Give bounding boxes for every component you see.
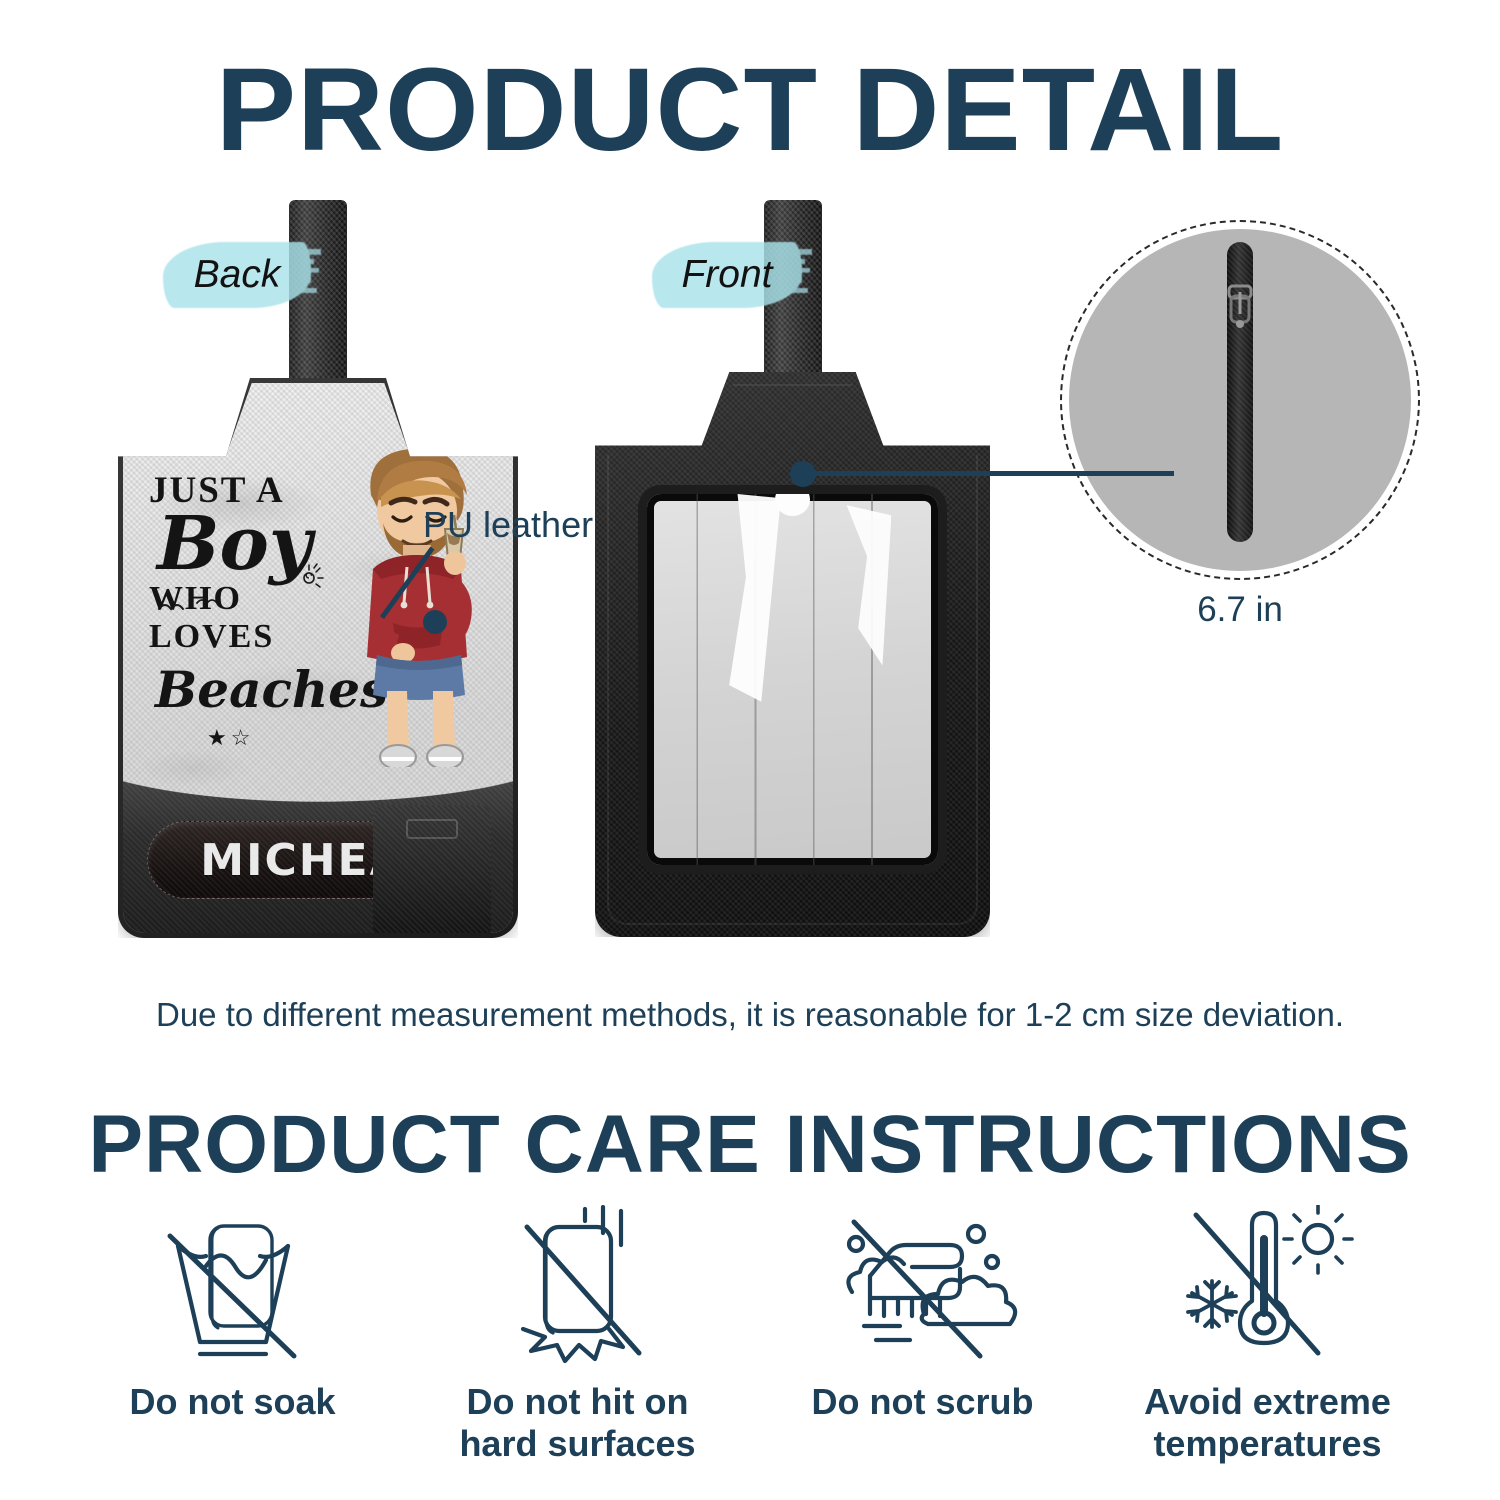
tag-artwork-text: JUST A Boy WHO LOVES Beaches ★☆: [149, 469, 359, 751]
luggage-tag-back: JUST A Boy WHO LOVES Beaches ★☆: [118, 200, 518, 940]
view-label-back-text: Back: [194, 253, 281, 297]
luggage-tag-front: [595, 200, 990, 940]
care-item-no-extreme-temp: Avoid extremetemperatures: [1095, 1195, 1440, 1495]
care-label-no-scrub: Do not scrub: [812, 1381, 1034, 1423]
callout-strap-dot: [790, 461, 816, 487]
no-extreme-temp-icon: [1178, 1195, 1358, 1375]
id-card-window: [647, 494, 938, 865]
window-glare-left: [711, 494, 781, 702]
callout-pu-leather-dot: [423, 610, 447, 634]
buckle-icon: [1223, 284, 1257, 342]
care-item-no-soak: Do not soak: [60, 1195, 405, 1495]
window-glare-right: [827, 505, 891, 676]
no-impact-icon: [493, 1195, 663, 1375]
artwork-line-5: Beaches: [155, 660, 359, 719]
callout-strap-line: [804, 471, 1174, 476]
size-deviation-note: Due to different measurement methods, it…: [0, 996, 1500, 1034]
care-label-no-extreme-temp: Avoid extremetemperatures: [1144, 1381, 1391, 1465]
no-soak-icon: [148, 1195, 318, 1375]
product-stage: Back Front JUST A Boy WHO LOVES Beaches …: [0, 180, 1500, 970]
tag-back-printed-face: JUST A Boy WHO LOVES Beaches ★☆: [123, 383, 513, 933]
view-label-back: Back: [163, 242, 311, 308]
care-label-no-impact: Do not hit onhard surfaces: [459, 1381, 695, 1465]
view-label-front-text: Front: [681, 253, 772, 297]
artwork-line-2: Boy: [157, 510, 359, 578]
care-item-no-scrub: Do not scrub: [750, 1195, 1095, 1495]
callout-pu-leather-label: PU leather: [423, 504, 593, 546]
tag-back-body: JUST A Boy WHO LOVES Beaches ★☆: [118, 378, 518, 938]
tag-front-body: [595, 372, 990, 937]
boy-character-icon: [337, 437, 497, 767]
strap-closeup: [1227, 242, 1253, 542]
window-glare-top: [775, 494, 810, 516]
artwork-line-4: LOVES: [149, 618, 359, 656]
suitcase-illustration: [373, 805, 491, 933]
page-title-product-detail: PRODUCT DETAIL: [0, 42, 1500, 178]
care-instructions-row: Do not soak Do not hit onhard surfaces: [60, 1195, 1440, 1495]
strap-detail-circle: [1060, 220, 1420, 580]
care-label-no-soak: Do not soak: [129, 1381, 335, 1423]
care-item-no-impact: Do not hit onhard surfaces: [405, 1195, 750, 1495]
view-label-front: Front: [652, 242, 802, 308]
character-illustration: [337, 437, 497, 767]
size-caption: 6.7 in: [1060, 590, 1420, 630]
no-scrub-icon: [828, 1195, 1018, 1375]
page-title-product-care: PRODUCT CARE INSTRUCTIONS: [0, 1098, 1500, 1192]
